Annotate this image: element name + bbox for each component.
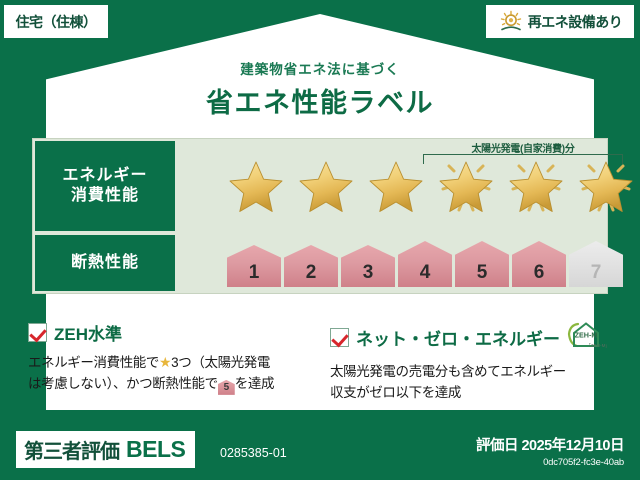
zeh-desc-part3: は考慮しない）、かつ断熱性能で (28, 376, 218, 391)
criterion-netzero-title: ネット・ゼロ・エネルギー (356, 325, 560, 350)
criterion-zeh-title: ZEH水準 (54, 320, 122, 345)
renewable-equipment-tag: 再エネ設備あり (486, 5, 634, 38)
insulation-performance-row: 断熱性能 1234567 (33, 235, 609, 293)
renewable-equipment-label: 再エネ設備あり (528, 12, 623, 32)
energy-star-base (365, 155, 427, 217)
evaluation-footer: 評価日 2025年12月10日 0dc705f2-fc3e-40ab (476, 434, 624, 468)
energy-rating-body: 太陽光発電(自家消費)分 (175, 141, 609, 233)
netzero-checkbox-checked-icon (330, 328, 349, 347)
insulation-performance-label-box: 断熱性能 (35, 235, 175, 291)
bels-certificate-number: 0285385-01 (220, 446, 287, 460)
energy-star-base (225, 155, 287, 217)
energy-label-line1: エネルギー (62, 166, 147, 186)
zeh-desc-part1: エネルギー消費性能で (28, 355, 159, 370)
label-title-block: 建築物省エネ法に基づく 省エネ性能ラベル (0, 58, 640, 120)
criterion-zeh-header: ZEH水準 (28, 320, 290, 345)
insulation-level-scale: 1234567 (227, 241, 623, 287)
energy-star-solar (505, 155, 567, 217)
insulation-level-1: 1 (227, 245, 281, 287)
insulation-level-4: 4 (398, 241, 452, 287)
insulation-level-5: 5 (455, 241, 509, 287)
insulation-label: 断熱性能 (71, 253, 139, 273)
solar-sun-icon (498, 10, 524, 34)
energy-performance-label-box: エネルギー 消費性能 (35, 141, 175, 231)
building-type-label: 住宅（住棟） (16, 12, 97, 32)
insulation-level-7: 7 (569, 241, 623, 287)
energy-star-base (295, 155, 357, 217)
insulation-level-3: 3 (341, 245, 395, 287)
energy-star-solar (575, 155, 637, 217)
energy-label-line2: 消費性能 (71, 186, 139, 206)
evaluation-hash: 0dc705f2-fc3e-40ab (476, 457, 624, 468)
performance-card: エネルギー 消費性能 太陽光発電(自家消費)分 断熱性能 1234567 (32, 138, 608, 294)
title-subtitle: 建築物省エネ法に基づく (0, 58, 640, 78)
inline-insulation-badge: 5 (218, 380, 235, 395)
bels-certification-badge: 第三者評価 BELS (16, 431, 195, 468)
criterion-zeh: ZEH水準 エネルギー消費性能で★3つ（太陽光発電 は考慮しない）、かつ断熱性能… (28, 320, 290, 395)
criterion-netzero-header: ネット・ゼロ・エネルギー ZEH-M 「ZEH-M」 (330, 320, 592, 355)
energy-star-solar (435, 155, 497, 217)
zeh-m-logo-text: ZEH-M (575, 331, 598, 340)
netzero-desc-line1: 太陽光発電の売電分も含めてエネルギー (330, 364, 566, 379)
zeh-m-logo-caption: 「ZEH-M」 (586, 343, 610, 348)
energy-performance-row: エネルギー 消費性能 太陽光発電(自家消費)分 (33, 141, 609, 233)
bels-jp-label: 第三者評価 (24, 435, 119, 464)
inline-star-icon: ★ (159, 354, 171, 370)
netzero-desc-line2: 収支がゼロ以下を達成 (330, 385, 461, 400)
insulation-level-2: 2 (284, 245, 338, 287)
insulation-level-6: 6 (512, 241, 566, 287)
criterion-zeh-description: エネルギー消費性能で★3つ（太陽光発電 は考慮しない）、かつ断熱性能で5を達成 (28, 352, 290, 395)
criterion-net-zero-energy: ネット・ゼロ・エネルギー ZEH-M 「ZEH-M」 太陽光発電の売電分も含めて… (330, 320, 592, 404)
bels-en-label: BELS (126, 436, 185, 463)
building-type-tag: 住宅（住棟） (4, 5, 108, 38)
insulation-rating-body: 1234567 (175, 235, 609, 293)
solar-bracket-label: 太陽光発電(自家消費)分 (423, 140, 623, 155)
energy-star-rating (225, 155, 637, 217)
page-title: 省エネ性能ラベル (0, 81, 640, 120)
zeh-checkbox-checked-icon (28, 323, 47, 342)
zeh-desc-part4: を達成 (235, 376, 274, 391)
criterion-netzero-description: 太陽光発電の売電分も含めてエネルギー 収支がゼロ以下を達成 (330, 362, 592, 404)
zeh-m-logo: ZEH-M 「ZEH-M」 (565, 320, 611, 355)
zeh-desc-part2: 3つ（太陽光発電 (171, 355, 270, 370)
evaluation-date: 評価日 2025年12月10日 (476, 434, 624, 455)
energy-performance-label: 住宅（住棟） 再エネ設備あり 建築物省エネ法に基づく 省エネ性能ラベル (0, 0, 640, 480)
